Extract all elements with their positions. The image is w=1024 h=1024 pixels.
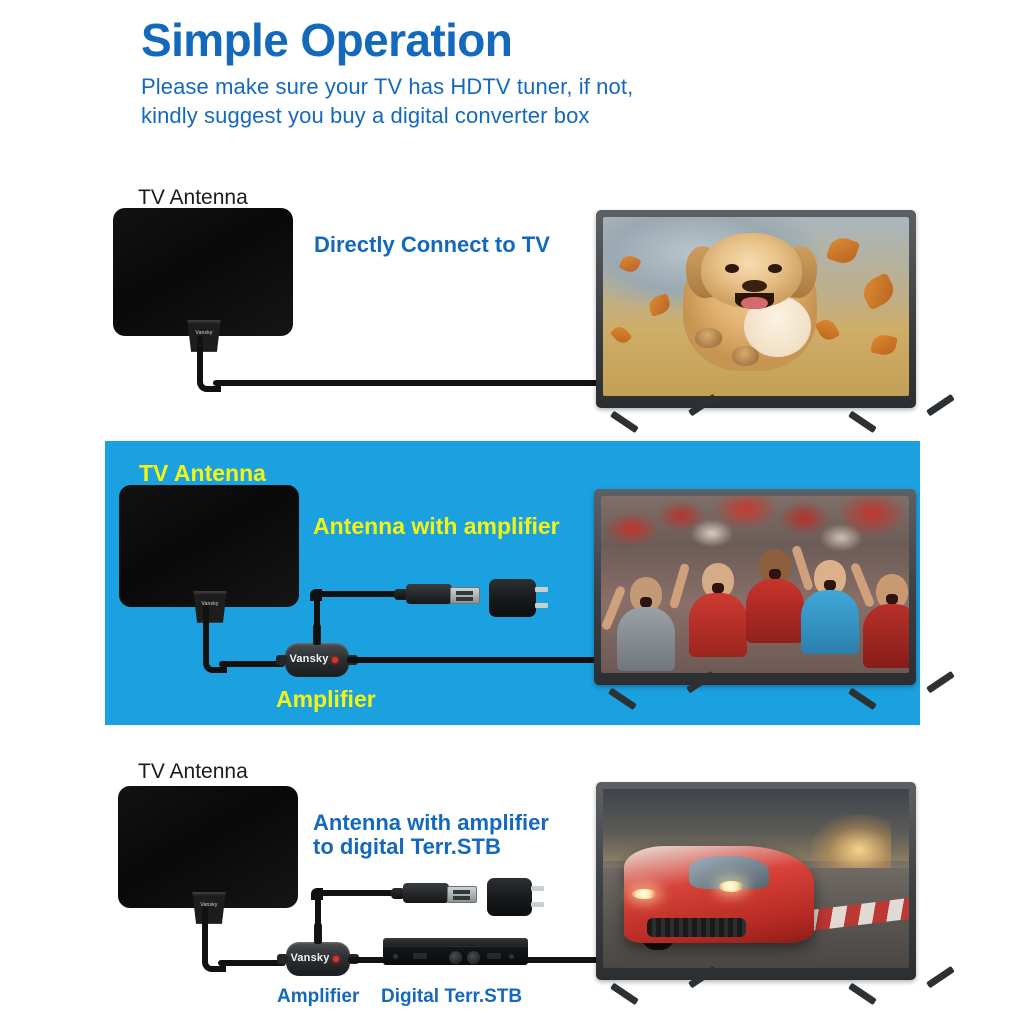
tv-scene-dog: [603, 217, 909, 396]
panel3-usb-cable-bend: [311, 888, 323, 900]
tv-leg-left: [608, 685, 662, 709]
page-title: Simple Operation: [141, 14, 921, 66]
leaf-decoration: [647, 293, 673, 317]
panel3-television: [596, 782, 916, 980]
leaf-decoration: [859, 272, 899, 310]
car-grille: [647, 918, 746, 937]
panel1-television: [596, 210, 916, 408]
fan-torso: [617, 607, 675, 671]
panel3-set-top-box: [383, 938, 528, 964]
tv-scene-racecar: [603, 789, 909, 968]
dog-eye: [725, 264, 738, 273]
adapter-body: [487, 878, 532, 916]
antenna-stand: Vansky: [190, 892, 228, 924]
panel2-tv-antenna: Vansky: [119, 485, 299, 607]
usb-grip: [403, 883, 449, 903]
stb-front-panel: [383, 946, 528, 965]
car-body: [624, 846, 814, 943]
dog-paw: [732, 346, 760, 366]
leaf-decoration: [610, 324, 633, 347]
leaf-decoration: [870, 333, 898, 357]
panel2-amplifier-label: Amplifier: [276, 686, 376, 713]
amplifier-brand-label: Vansky: [285, 653, 333, 665]
leaf-decoration: [826, 235, 860, 267]
tv-screen: [603, 789, 909, 968]
car-headlight-right: [719, 881, 744, 892]
tv-leg-right: [848, 408, 902, 432]
tv-legs: [596, 408, 916, 434]
panel3-stb-to-tv-cable: [526, 957, 598, 963]
fan-torso: [863, 604, 909, 668]
panel-amplifier-connection: TV Antenna Vansky Antenna with amplifier…: [0, 441, 1024, 725]
antenna-stand: Vansky: [191, 591, 229, 623]
subtitle-line-1: Please make sure your TV has HDTV tuner,…: [141, 72, 921, 101]
panel3-antenna-label: TV Antenna: [138, 760, 248, 785]
adapter-body: [489, 579, 536, 617]
antenna-sheet: [118, 786, 298, 908]
adapter-prong-bottom: [535, 603, 548, 608]
tv-screen: [601, 496, 909, 673]
panel2-connection-label: Antenna with amplifier: [313, 513, 560, 540]
stb-display-slot: [413, 953, 427, 959]
antenna-sheet: [119, 485, 299, 607]
stb-indicator: [393, 954, 398, 959]
panel2-amplifier: Vansky: [285, 643, 349, 677]
stb-button-slot: [487, 953, 501, 959]
amplifier-power-led: [332, 657, 338, 663]
page-header: Simple Operation Please make sure your T…: [141, 14, 921, 130]
stb-knob-right: [467, 951, 480, 964]
usb-contact-shell: [450, 587, 480, 604]
page-subtitle: Please make sure your TV has HDTV tuner,…: [141, 72, 921, 130]
panel3-connection-label-line-1: Antenna with amplifier: [313, 810, 549, 836]
tv-legs: [596, 980, 916, 1006]
panel1-connection-label: Directly Connect to TV: [314, 232, 550, 258]
car-headlight-left: [632, 889, 657, 900]
dog-eye: [768, 264, 781, 273]
antenna-brand-label: Vansky: [186, 330, 222, 336]
panel2-antenna-label: TV Antenna: [139, 460, 266, 487]
panel3-amp-to-stb-cable: [348, 957, 388, 963]
adapter-prong-top: [535, 587, 548, 592]
adapter-prong-bottom: [531, 902, 544, 907]
tv-leg-right: [848, 685, 902, 709]
leaf-decoration: [619, 253, 642, 275]
panel3-amplifier-label: Amplifier: [277, 986, 359, 1008]
panel3-stb-label: Digital Terr.STB: [381, 986, 522, 1008]
panel2-output-cable: [347, 657, 597, 663]
usb-contact-shell: [447, 886, 477, 903]
tv-screen: [603, 217, 909, 396]
tv-leg-left: [610, 980, 664, 1004]
panel1-tv-antenna: Vansky: [113, 208, 293, 336]
panel2-usb-plug: [406, 584, 480, 604]
crowd-fan: [792, 560, 868, 673]
stb-indicator: [509, 954, 514, 959]
panel3-connection-label-line-2: to digital Terr.STB: [313, 834, 501, 860]
antenna-brand-label: Vansky: [191, 902, 227, 908]
panel3-usb-plug: [403, 883, 477, 903]
crowd-fan: [613, 577, 679, 673]
dog-paw: [695, 328, 723, 348]
panel2-power-adapter: [489, 579, 536, 617]
antenna-brand-label: Vansky: [192, 601, 228, 607]
tv-leg-right: [848, 980, 902, 1004]
adapter-prong-top: [531, 886, 544, 891]
tv-scene-crowd: [601, 496, 909, 673]
dog-tongue: [741, 297, 768, 310]
panel-stb-connection: TV Antenna Vansky Antenna with amplifier…: [0, 750, 1024, 1024]
amplifier-power-led: [333, 956, 339, 962]
panel2-usb-cable-bend: [310, 589, 322, 601]
subtitle-line-2: kindly suggest you buy a digital convert…: [141, 101, 921, 130]
panel-direct-connection: TV Antenna Vansky Directly Connect to TV: [0, 170, 1024, 432]
panel3-antenna-cable-horizontal: [218, 960, 286, 966]
panel1-cable-horizontal: [213, 380, 608, 386]
fan-torso: [801, 590, 859, 654]
tv-leg-left: [610, 408, 664, 432]
panel3-tv-antenna: Vansky: [118, 786, 298, 908]
panel3-power-adapter: [487, 878, 532, 916]
panel3-amplifier: Vansky: [286, 942, 350, 976]
panel2-television: [594, 489, 916, 685]
crowd-fan: [860, 574, 909, 673]
antenna-stand: Vansky: [185, 320, 223, 352]
fan-torso: [689, 593, 747, 657]
antenna-sheet: [113, 208, 293, 336]
dog-nose: [742, 280, 766, 293]
leaf-decoration: [815, 316, 841, 343]
usb-grip: [406, 584, 452, 604]
amplifier-brand-label: Vansky: [286, 952, 334, 964]
tv-legs: [594, 685, 916, 711]
stb-knob-left: [449, 951, 462, 964]
